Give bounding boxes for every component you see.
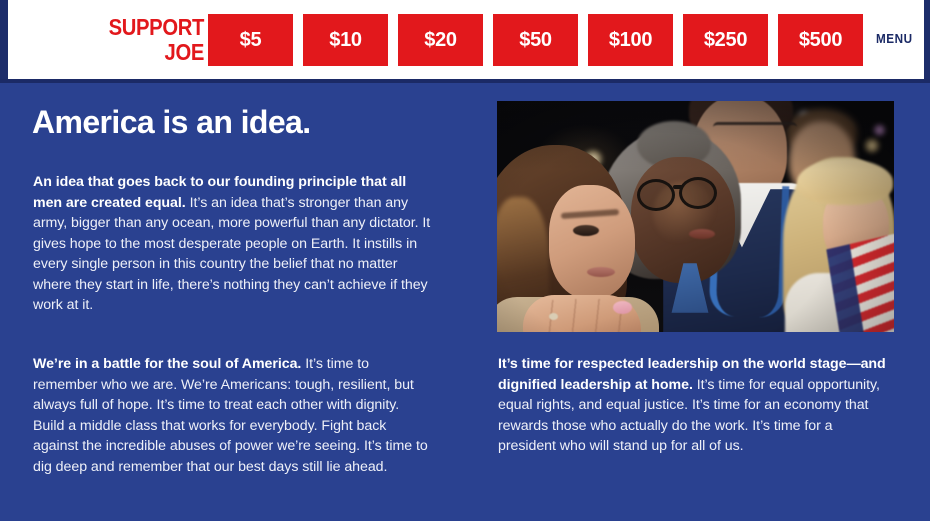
photo-front-woman-ring [549, 313, 558, 320]
photo-front-woman-eye [573, 225, 599, 236]
photo-bokeh-light-icon [872, 123, 887, 137]
photo-front-woman-fingernail [613, 301, 632, 314]
donate-amount-500-button[interactable]: $500 [778, 14, 863, 66]
photo-front-woman-face [549, 185, 635, 299]
donate-amount-250-button[interactable]: $250 [683, 14, 768, 66]
photo-front-woman-lips [587, 267, 615, 277]
photo-older-woman-lips [689, 229, 715, 239]
photo-older-woman-eyeglasses [637, 179, 675, 211]
crowd-photo [497, 101, 894, 332]
photo-american-flag [826, 234, 894, 332]
support-joe-logo[interactable]: SUPPORT JOE [93, 14, 204, 66]
main-content: America is an idea. An idea that goes ba… [0, 83, 930, 521]
page-title: America is an idea. [32, 104, 311, 141]
donate-amount-10-button[interactable]: $10 [303, 14, 388, 66]
donate-amount-20-button[interactable]: $20 [398, 14, 483, 66]
donate-amount-5-button[interactable]: $5 [208, 14, 293, 66]
donate-amount-50-button[interactable]: $50 [493, 14, 578, 66]
landing-page: SUPPORT JOE $5 $10 $20 $50 $100 $250 $50… [0, 0, 930, 521]
photo-bokeh-light-icon [863, 137, 881, 154]
intro-paragraph-body: It’s an idea that’s stronger than any ar… [33, 195, 430, 314]
logo-line-2: JOE [165, 40, 204, 65]
photo-man-vest-eyeglasses [713, 122, 797, 132]
donation-amount-button-group: $5 $10 $20 $50 $100 $250 $500 [208, 14, 863, 66]
right-column-paragraph: It’s time for respected leadership on th… [498, 354, 891, 457]
intro-paragraph: An idea that goes back to our founding p… [33, 172, 438, 316]
left-column-body: It’s time to remember who we are. We’re … [33, 356, 428, 475]
site-header: SUPPORT JOE $5 $10 $20 $50 $100 $250 $50… [0, 0, 930, 79]
header-right-edge-accent [924, 0, 930, 79]
left-column-paragraph: We’re in a battle for the soul of Americ… [33, 354, 433, 477]
photo-older-woman-eyeglasses [679, 177, 717, 209]
photo-older-woman-eyeglasses-bridge [673, 185, 683, 189]
menu-button[interactable]: MENU [876, 31, 913, 46]
photo-blonde-woman-bangs [797, 159, 893, 205]
left-column-lead: We’re in a battle for the soul of Americ… [33, 356, 301, 372]
logo-line-1: SUPPORT [109, 15, 204, 40]
header-left-edge-accent [0, 0, 8, 79]
donate-amount-100-button[interactable]: $100 [588, 14, 673, 66]
